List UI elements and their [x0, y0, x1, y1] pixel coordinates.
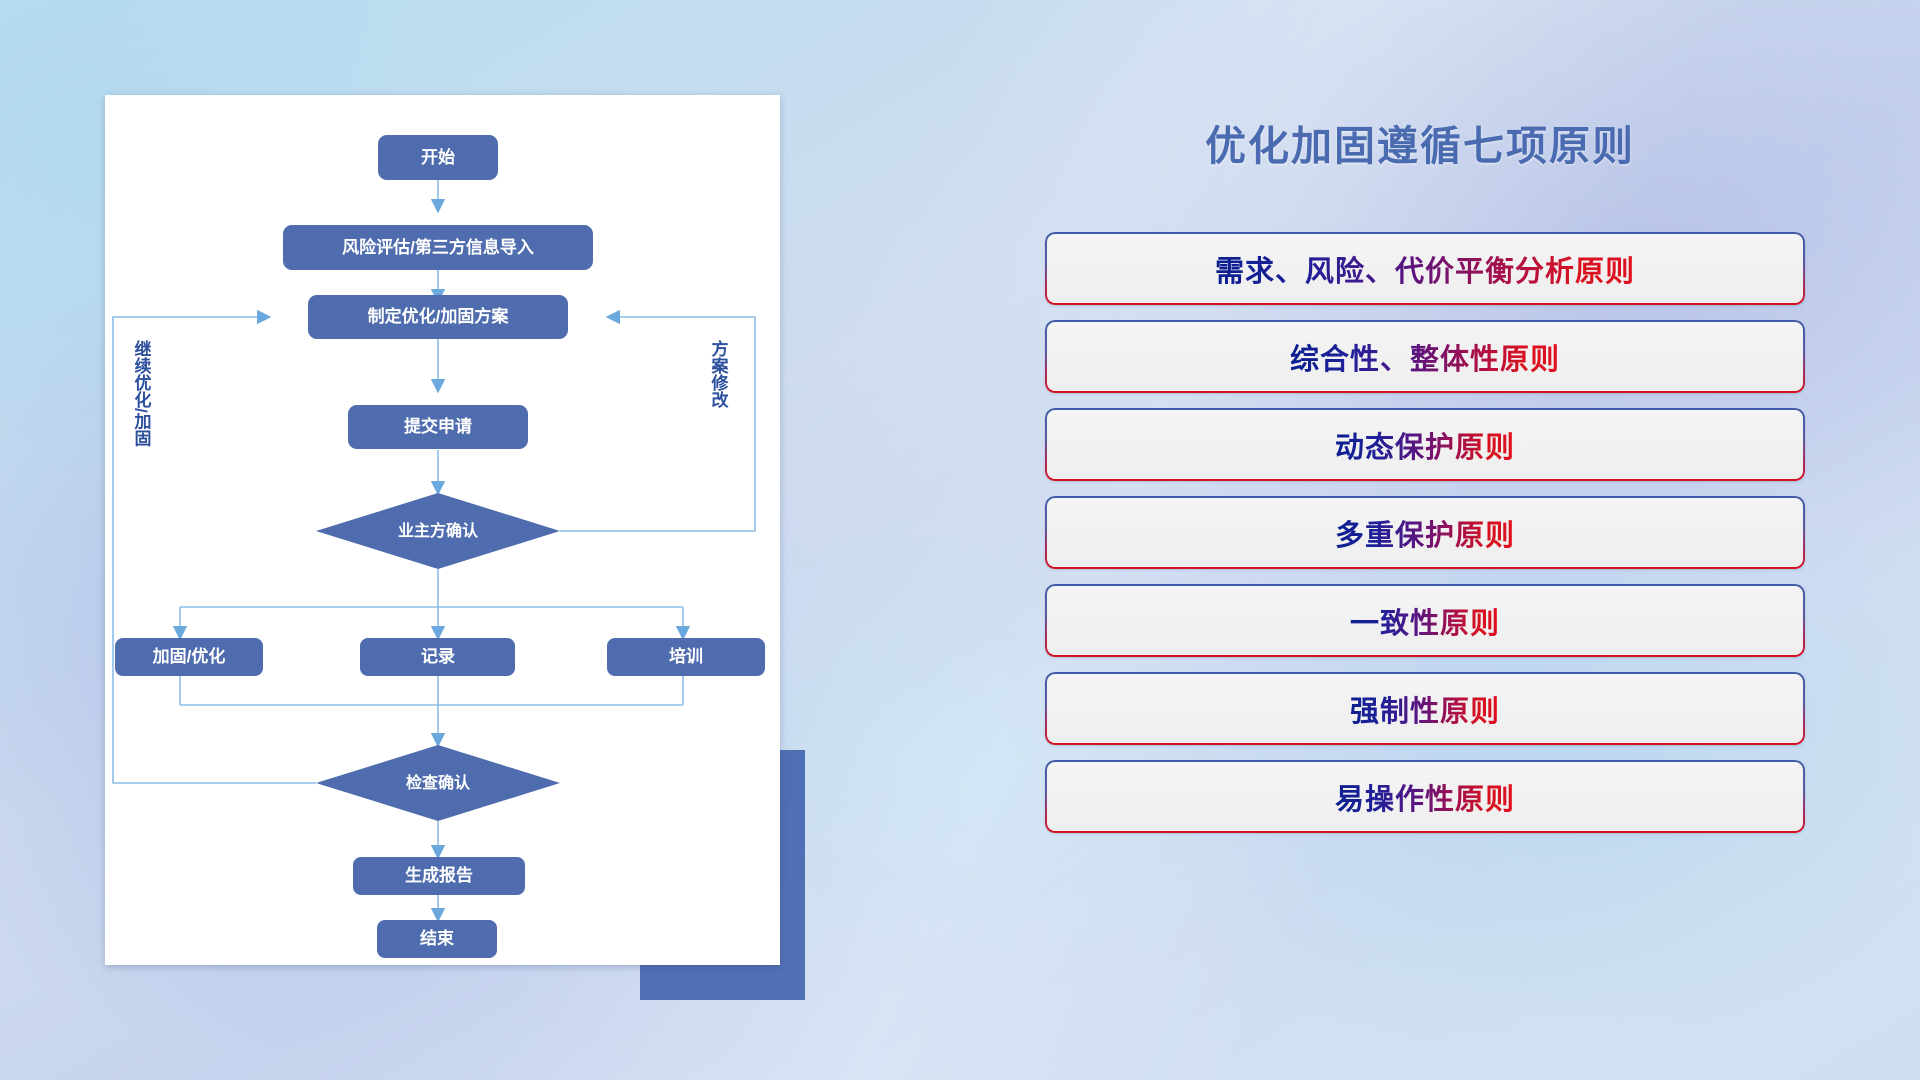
node-record[interactable]: 记录 — [360, 638, 515, 676]
node-end-label: 结束 — [420, 928, 454, 948]
node-training[interactable]: 培训 — [607, 638, 765, 676]
principle-label: 动态保护原则 — [1335, 424, 1515, 466]
node-start[interactable]: 开始 — [378, 135, 498, 180]
node-record-label: 记录 — [421, 647, 455, 666]
node-reinforce[interactable]: 加固/优化 — [115, 638, 263, 676]
flowchart-panel: 开始 风险评估/第三方信息导入 制定优化/加固方案 提交申请 业主方确认 加固/… — [105, 95, 780, 965]
principle-card[interactable]: 易操作性原则 — [1045, 760, 1805, 833]
principle-label: 一致性原则 — [1350, 600, 1500, 642]
node-report[interactable]: 生成报告 — [353, 857, 525, 895]
node-risk-assessment[interactable]: 风险评估/第三方信息导入 — [283, 225, 593, 270]
principle-card[interactable]: 一致性原则 — [1045, 584, 1805, 657]
node-reinforce-label: 加固/优化 — [152, 646, 226, 666]
node-submit-label: 提交申请 — [404, 416, 472, 436]
principle-label: 强制性原则 — [1350, 688, 1500, 730]
node-plan[interactable]: 制定优化/加固方案 — [308, 295, 568, 339]
flowchart-svg: 开始 风险评估/第三方信息导入 制定优化/加固方案 提交申请 业主方确认 加固/… — [105, 95, 780, 965]
principle-card[interactable]: 综合性、整体性原则 — [1045, 320, 1805, 393]
node-owner-confirm[interactable]: 业主方确认 — [316, 493, 560, 569]
node-risk-label: 风险评估/第三方信息导入 — [342, 237, 534, 257]
loop-label-right: 方案修改 — [709, 339, 730, 409]
node-training-label: 培训 — [669, 646, 703, 666]
node-owner-label: 业主方确认 — [398, 521, 479, 540]
principle-card[interactable]: 需求、风险、代价平衡分析原则 — [1045, 232, 1805, 305]
principles-card-list: 需求、风险、代价平衡分析原则 综合性、整体性原则 动态保护原则 多重保护原则 一… — [1045, 232, 1805, 848]
loop-label-left: 继续优化/加固 — [132, 339, 153, 448]
principles-title: 优化加固遵循七项原则 — [1020, 112, 1820, 172]
principle-card[interactable]: 多重保护原则 — [1045, 496, 1805, 569]
principle-label: 易操作性原则 — [1335, 776, 1515, 818]
principle-label: 需求、风险、代价平衡分析原则 — [1215, 248, 1635, 290]
node-plan-label: 制定优化/加固方案 — [368, 306, 510, 326]
node-start-label: 开始 — [421, 147, 455, 167]
node-check-confirm[interactable]: 检查确认 — [316, 745, 560, 821]
node-report-label: 生成报告 — [405, 865, 473, 885]
principle-card[interactable]: 动态保护原则 — [1045, 408, 1805, 481]
node-check-label: 检查确认 — [406, 773, 471, 792]
principle-label: 多重保护原则 — [1335, 512, 1515, 554]
principle-card[interactable]: 强制性原则 — [1045, 672, 1805, 745]
node-end[interactable]: 结束 — [377, 920, 497, 958]
principle-label: 综合性、整体性原则 — [1290, 336, 1560, 378]
node-submit[interactable]: 提交申请 — [348, 405, 528, 449]
principles-section: 优化加固遵循七项原则 需求、风险、代价平衡分析原则 综合性、整体性原则 动态保护… — [1020, 0, 1820, 1080]
